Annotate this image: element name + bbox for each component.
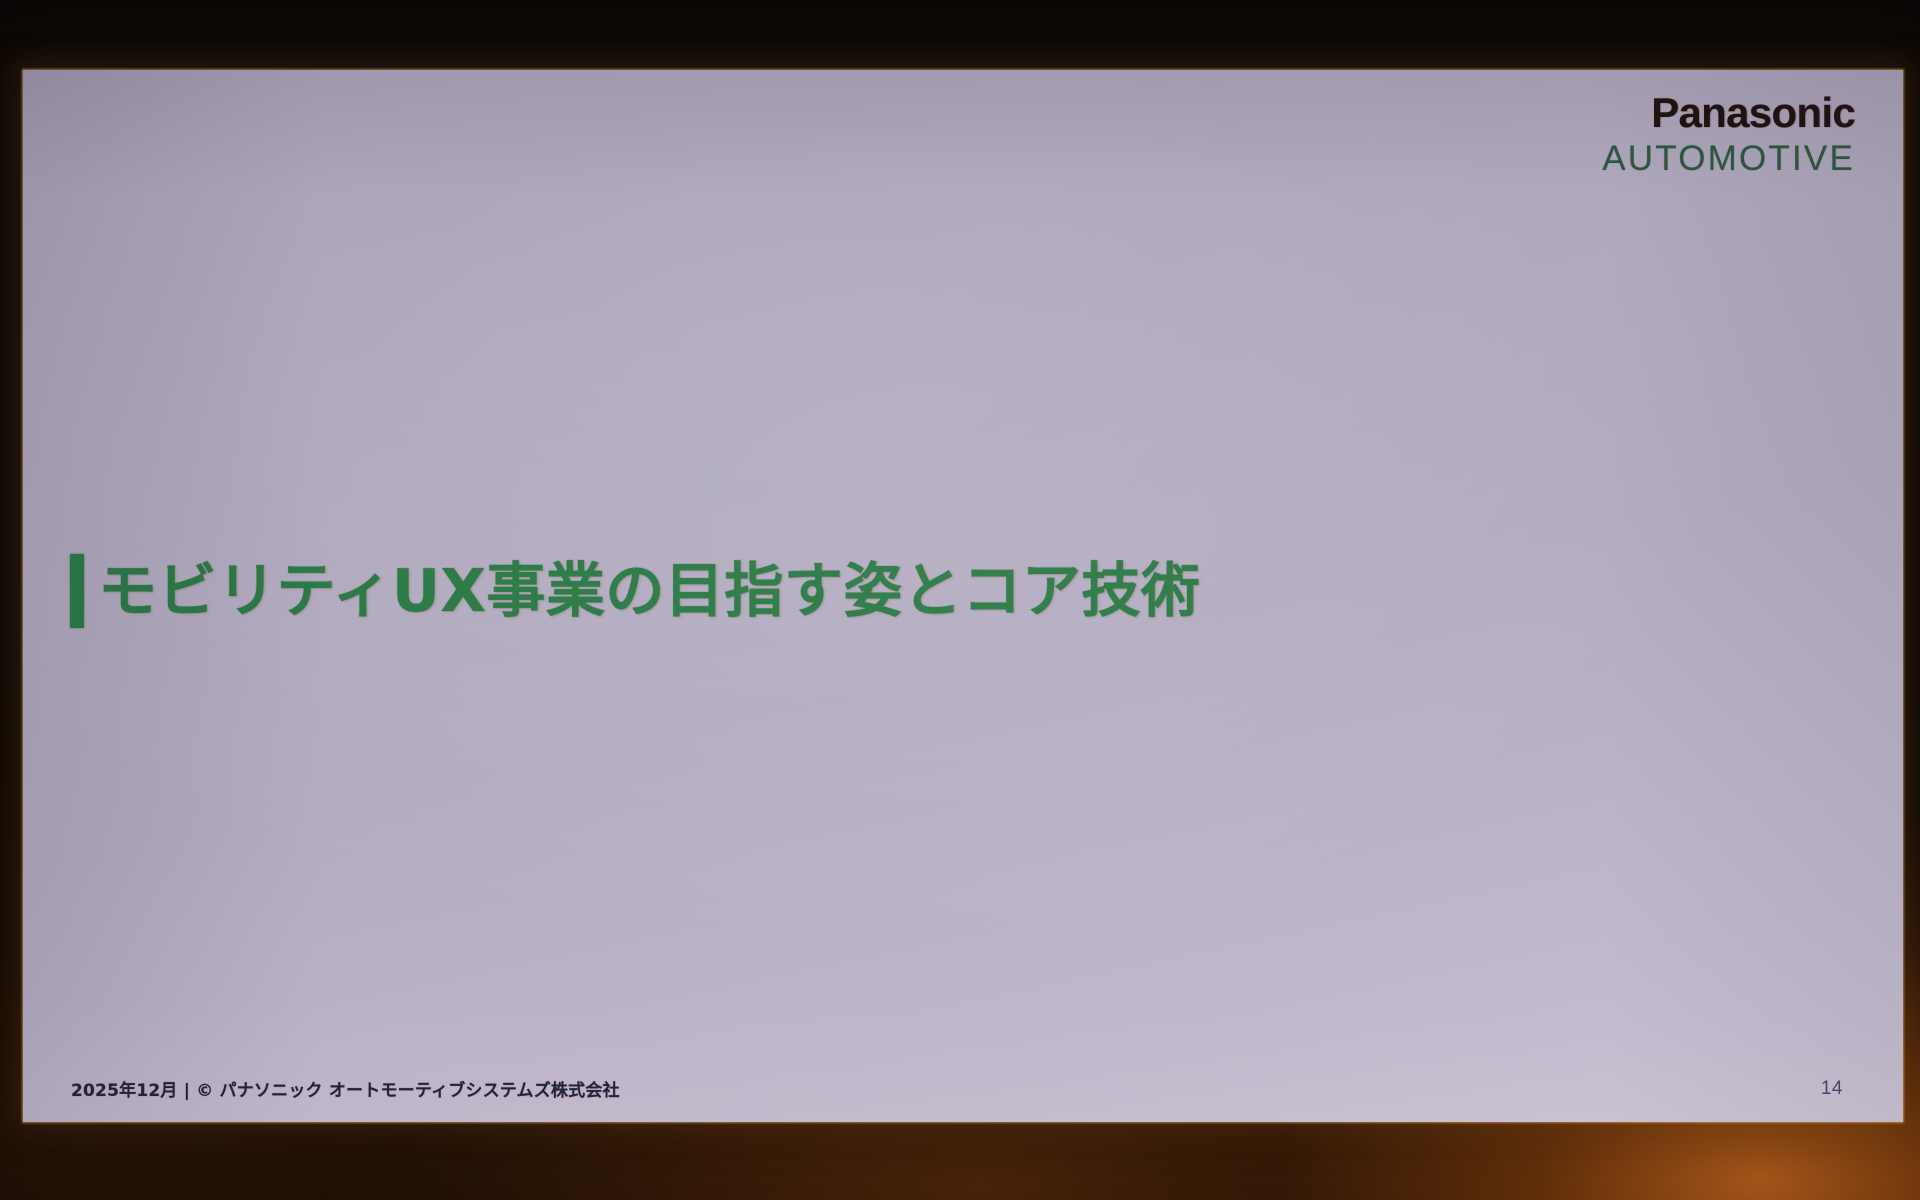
- page-title: モビリティUX事業の目指す姿とコア技術: [98, 561, 1200, 621]
- slide-title-block: モビリティUX事業の目指す姿とコア技術: [70, 554, 1200, 628]
- panasonic-wordmark: Panasonic: [1602, 92, 1855, 134]
- projection-room-background: Panasonic AUTOMOTIVE モビリティUX事業の目指す姿とコア技術…: [0, 0, 1920, 1200]
- presentation-slide: Panasonic AUTOMOTIVE モビリティUX事業の目指す姿とコア技術…: [23, 70, 1903, 1122]
- title-accent-bar: [70, 554, 84, 628]
- panasonic-automotive-logo: Panasonic AUTOMOTIVE: [1602, 92, 1855, 176]
- copyright-footer: 2025年12月 | © パナソニック オートモーティブシステムズ株式会社: [71, 1076, 620, 1101]
- automotive-wordmark: AUTOMOTIVE: [1602, 141, 1855, 176]
- slide-page-number: 14: [1821, 1078, 1843, 1100]
